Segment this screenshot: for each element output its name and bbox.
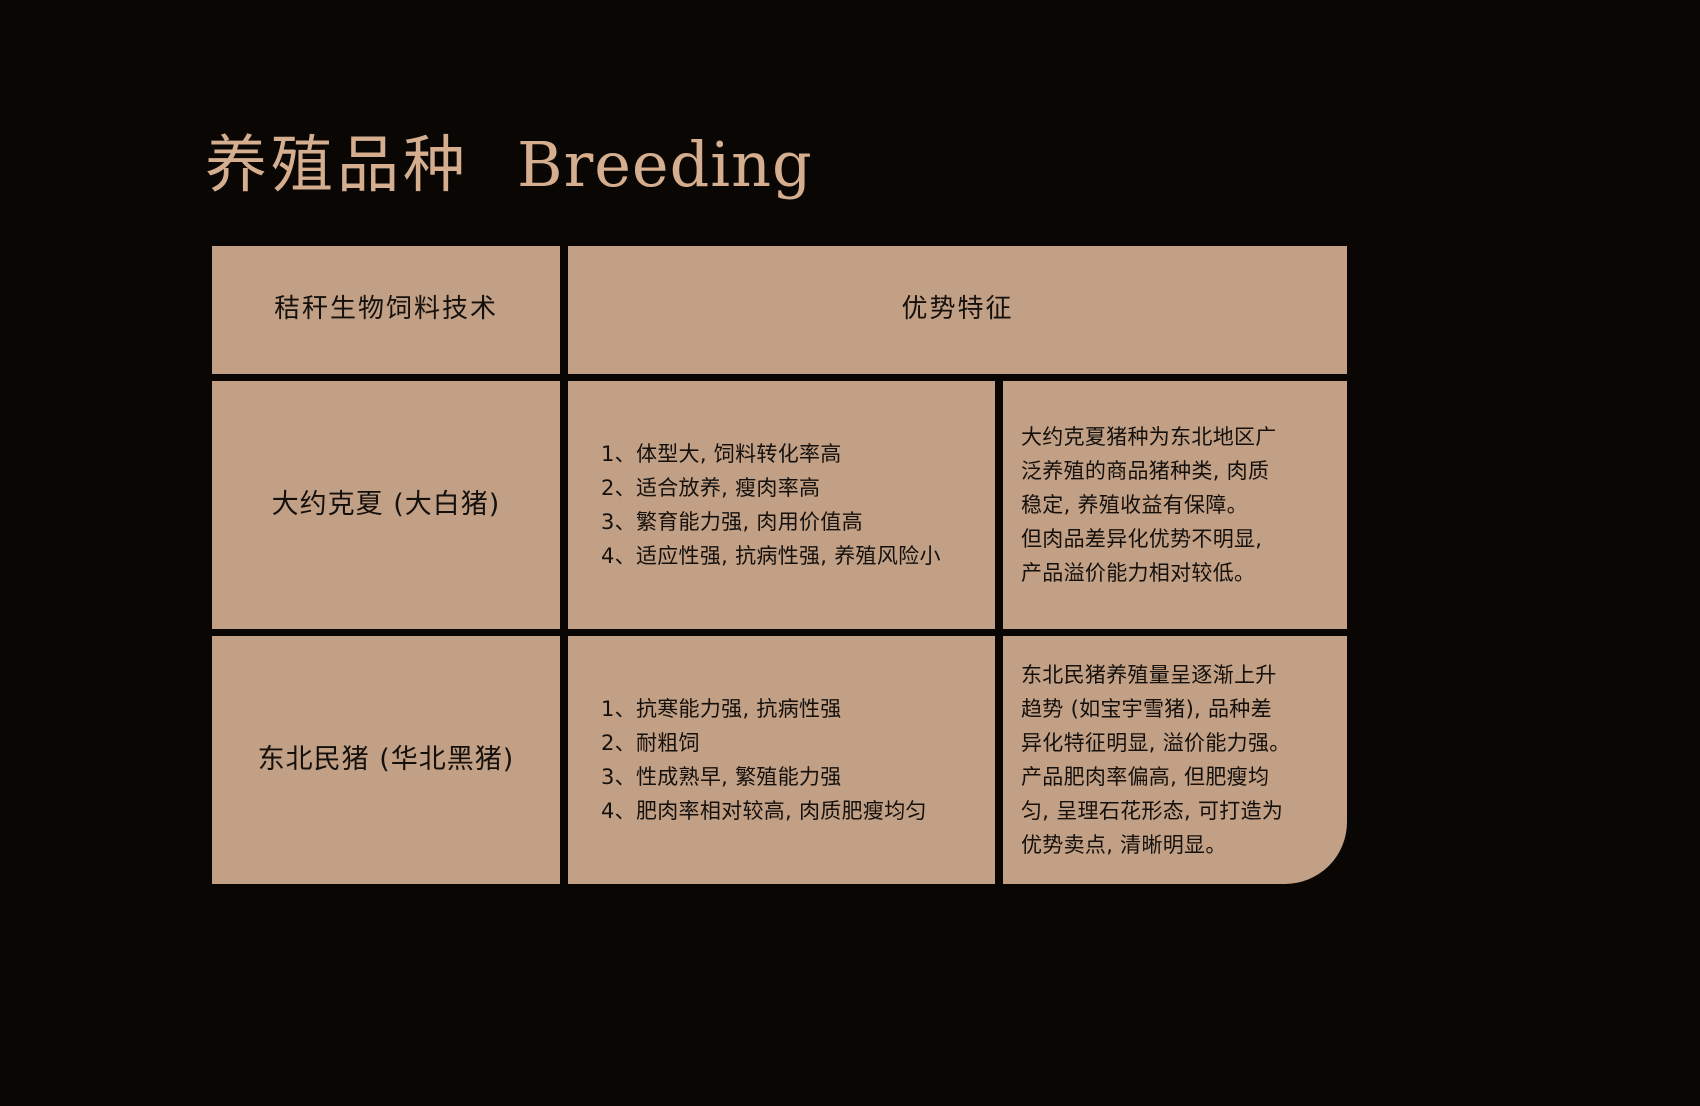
column-divider: [560, 246, 568, 374]
row-divider: [212, 629, 1347, 636]
column-divider: [995, 381, 1003, 629]
column-divider: [560, 636, 568, 884]
table-cell-breed-name: 东北民猪 (华北黑猪): [212, 636, 560, 884]
page-title: 养殖品种 Breeding: [205, 134, 813, 196]
table-cell-breed-features: 1、抗寒能力强, 抗病性强 2、耐粗饲 3、性成熟早, 繁殖能力强 4、肥肉率相…: [568, 636, 995, 884]
table-cell-breed-name: 大约克夏 (大白猪): [212, 381, 560, 629]
table-header-cell-technology: 秸秆生物饲料技术: [212, 246, 560, 374]
table-header-cell-advantages: 优势特征: [568, 246, 1347, 374]
table-header-label-advantages: 优势特征: [901, 296, 1013, 323]
breed-name-label: 大约克夏 (大白猪): [272, 491, 501, 519]
breed-features-list: 1、抗寒能力强, 抗病性强 2、耐粗饲 3、性成熟早, 繁殖能力强 4、肥肉率相…: [568, 692, 927, 828]
breed-features-list: 1、体型大, 饲料转化率高 2、适合放养, 瘦肉率高 3、繁育能力强, 肉用价值…: [568, 437, 941, 573]
table-cell-breed-description: 东北民猪养殖量呈逐渐上升 趋势 (如宝宇雪猪), 品种差 异化特征明显, 溢价能…: [1003, 636, 1347, 884]
breed-name-label: 东北民猪 (华北黑猪): [258, 746, 515, 774]
breeding-table: 秸秆生物饲料技术 优势特征 大约克夏 (大白猪) 1、体型大, 饲料转化率高 2…: [212, 246, 1347, 887]
table-cell-breed-description: 大约克夏猪种为东北地区广 泛养殖的商品猪种类, 肉质 稳定, 养殖收益有保障。 …: [1003, 381, 1347, 629]
table-row: 东北民猪 (华北黑猪) 1、抗寒能力强, 抗病性强 2、耐粗饲 3、性成熟早, …: [212, 636, 1347, 884]
page-title-en: Breeding: [517, 134, 813, 196]
column-divider: [560, 381, 568, 629]
row-divider: [212, 374, 1347, 381]
column-divider: [995, 636, 1003, 884]
slide-root: 养殖品种 Breeding 秸秆生物饲料技术 优势特征 大约克夏 (大白猪) 1…: [0, 0, 1700, 1106]
table-header-row: 秸秆生物饲料技术 优势特征: [212, 246, 1347, 374]
breed-description-text: 大约克夏猪种为东北地区广 泛养殖的商品猪种类, 肉质 稳定, 养殖收益有保障。 …: [1003, 420, 1291, 590]
table-header-label-technology: 秸秆生物饲料技术: [274, 296, 498, 323]
table-cell-breed-features: 1、体型大, 饲料转化率高 2、适合放养, 瘦肉率高 3、繁育能力强, 肉用价值…: [568, 381, 995, 629]
table-row: 大约克夏 (大白猪) 1、体型大, 饲料转化率高 2、适合放养, 瘦肉率高 3、…: [212, 381, 1347, 629]
page-title-cn: 养殖品种: [205, 134, 469, 196]
breed-description-text: 东北民猪养殖量呈逐渐上升 趋势 (如宝宇雪猪), 品种差 异化特征明显, 溢价能…: [1003, 658, 1305, 862]
